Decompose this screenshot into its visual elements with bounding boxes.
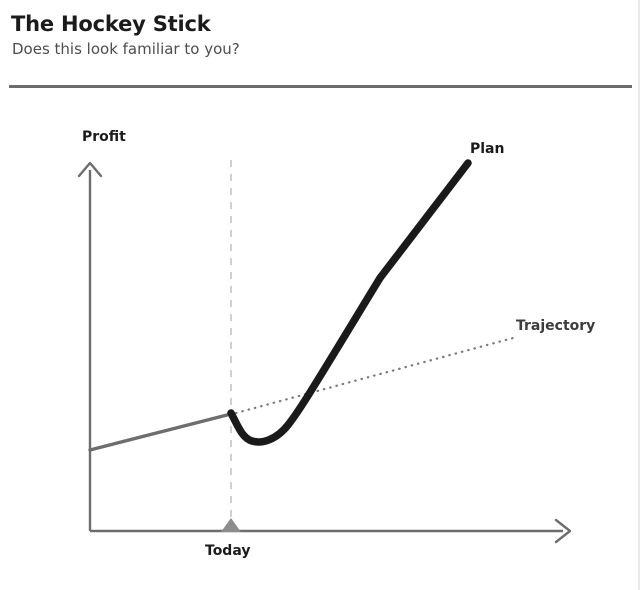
today-triangle-marker-icon (221, 518, 241, 532)
x-axis (90, 520, 570, 542)
today-axis-tick-label: Today (205, 543, 250, 559)
hockey-stick-chart: Profit Plan Trajectory Today (0, 88, 640, 590)
slide-header: The Hockey Stick Does this look familiar… (0, 0, 640, 88)
slide-canvas: The Hockey Stick Does this look familiar… (0, 0, 640, 590)
history-line-series (90, 414, 231, 450)
page-subtitle: Does this look familiar to you? (12, 40, 240, 58)
trajectory-series-label: Trajectory (516, 318, 595, 334)
trajectory-dotted-line-series (236, 338, 513, 413)
chart-svg (0, 88, 640, 590)
page-title: The Hockey Stick (11, 12, 211, 36)
plan-curve-series (231, 163, 468, 442)
plan-series-label: Plan (470, 141, 504, 157)
y-axis-label: Profit (82, 129, 126, 145)
y-axis (79, 163, 101, 531)
